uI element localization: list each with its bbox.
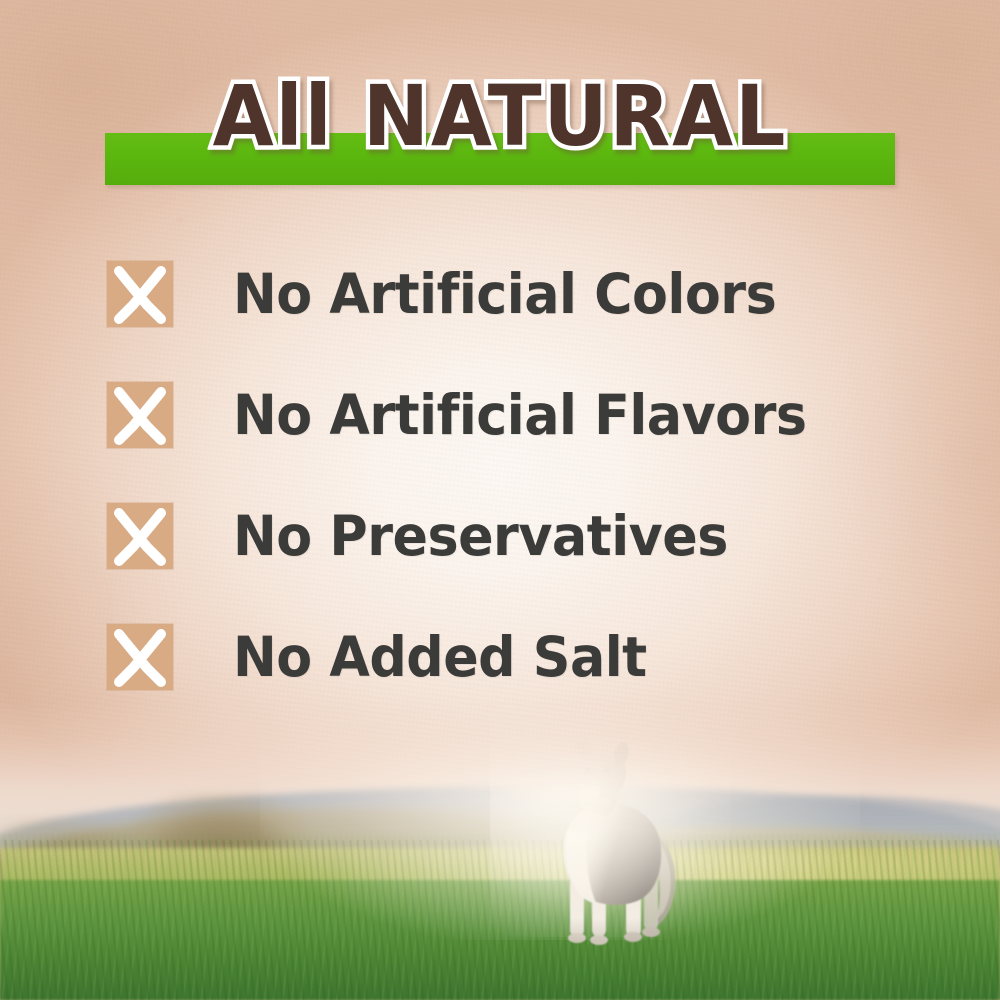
list-item: No Preservatives [107, 500, 927, 572]
list-item: No Artificial Colors [107, 258, 927, 330]
x-mark-icon [107, 503, 173, 569]
title-banner: All NATURAL [0, 62, 1000, 202]
feature-list: No Artificial Colors No Artificial Flavo… [107, 258, 927, 693]
border-collie-dog [530, 737, 690, 952]
list-item: No Added Salt [107, 621, 927, 693]
x-mark-icon [107, 624, 173, 690]
list-item: No Artificial Flavors [107, 379, 927, 451]
x-mark-icon [107, 382, 173, 448]
promo-graphic: All NATURAL No Artificial Colors No Arti… [0, 0, 1000, 1000]
list-item-label: No Preservatives [233, 505, 728, 567]
list-item-label: No Added Salt [233, 626, 647, 688]
grass-texture-front [0, 840, 1000, 1000]
page-title: All NATURAL [30, 62, 970, 170]
list-item-label: No Artificial Colors [233, 263, 776, 325]
x-mark-icon [107, 261, 173, 327]
landscape-photo [0, 700, 1000, 1000]
list-item-label: No Artificial Flavors [233, 384, 807, 446]
